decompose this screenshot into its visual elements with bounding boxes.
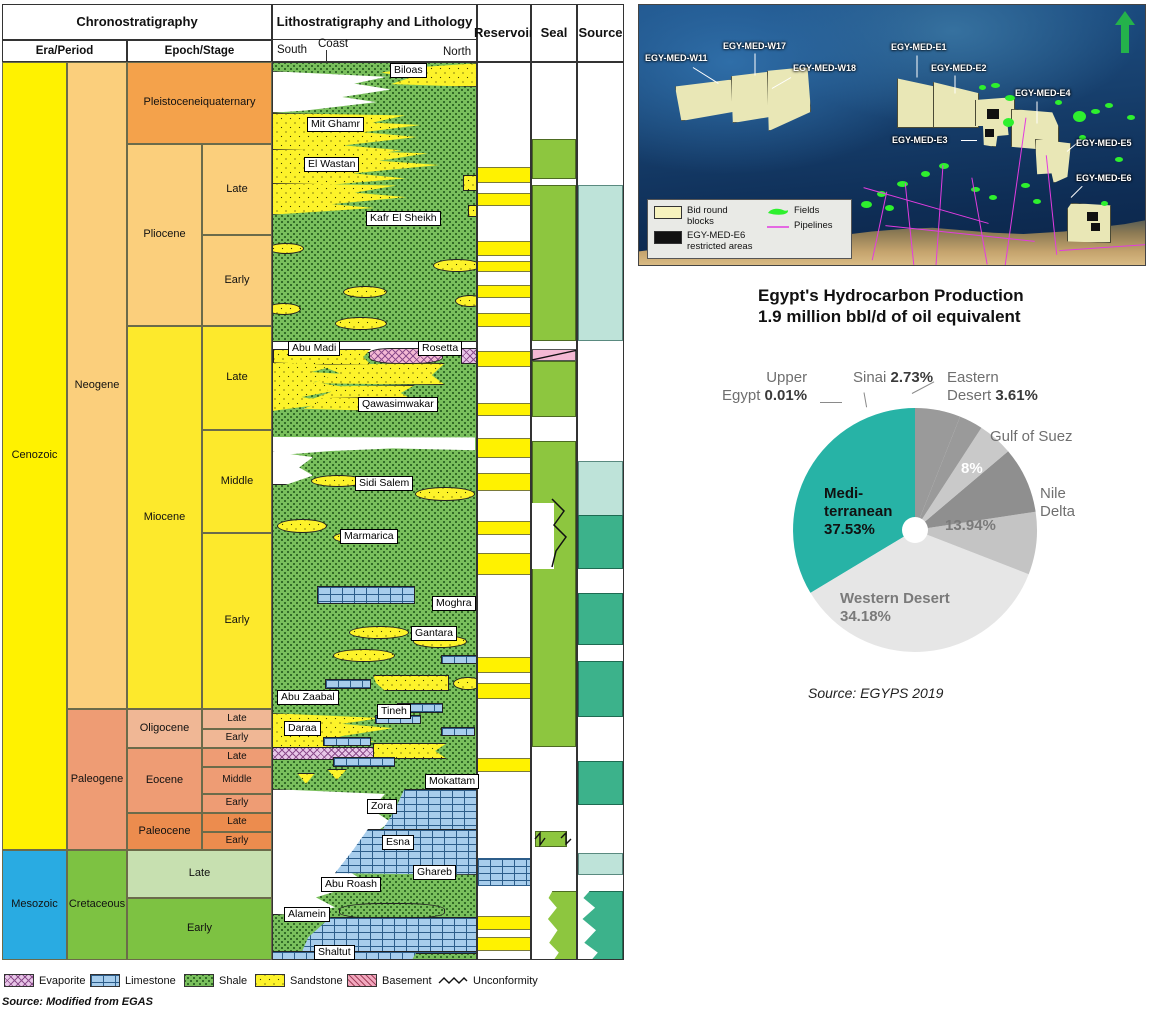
map-field bbox=[921, 171, 930, 177]
map-field bbox=[1005, 95, 1015, 101]
map-field bbox=[939, 163, 949, 169]
legend-item-basement: Basement bbox=[347, 974, 432, 987]
map-legend-label: Pipelines bbox=[794, 220, 833, 231]
restricted-area-patch bbox=[987, 109, 999, 119]
legend-item-shale: Shale bbox=[184, 974, 247, 987]
hydrocarbon-production-chart: Egypt's Hydrocarbon Production 1.9 milli… bbox=[640, 280, 1150, 730]
stage-pliocene-late: Late bbox=[202, 144, 272, 235]
legend-item-unconformity: Unconformity bbox=[438, 974, 538, 987]
evaporite-lens bbox=[461, 348, 477, 364]
source-band-dark bbox=[578, 761, 623, 805]
reservoir-band bbox=[478, 937, 530, 951]
map-label-egy-med-e4: EGY-MED-E4 bbox=[1015, 88, 1071, 98]
formation-label-tineh: Tineh bbox=[377, 704, 411, 719]
stage-eocene-middle: Middle bbox=[202, 767, 272, 794]
seal-band bbox=[532, 139, 576, 179]
stage-paleocene-early: Early bbox=[202, 832, 272, 850]
reservoir-band bbox=[478, 553, 530, 575]
formation-label-biloas: Biloas bbox=[390, 63, 427, 78]
pie-label-mediterranean: Medi- terranean 37.53% bbox=[824, 485, 892, 539]
legend-label: Basement bbox=[382, 975, 432, 987]
formation-label-sidi-salem: Sidi Salem bbox=[355, 476, 413, 491]
map-field bbox=[989, 195, 997, 200]
header-seal: Seal bbox=[531, 4, 577, 62]
wd-name: Western Desert bbox=[840, 590, 950, 607]
formation-label-esna: Esna bbox=[382, 835, 414, 850]
reservoir-band bbox=[478, 193, 530, 206]
period-neogene: Neogene bbox=[67, 62, 127, 709]
map-field bbox=[1127, 115, 1135, 120]
sand-lens bbox=[433, 259, 477, 272]
reservoir-band bbox=[478, 758, 530, 772]
formation-label-mokattam: Mokattam bbox=[425, 774, 479, 789]
leader-line bbox=[1037, 102, 1038, 124]
reservoir-band bbox=[478, 657, 530, 673]
stage-miocene-early: Early bbox=[202, 533, 272, 709]
bid-block-swatch-icon bbox=[654, 206, 682, 219]
formation-label-moghra: Moghra bbox=[432, 596, 476, 611]
map-field bbox=[1101, 201, 1108, 206]
ed-value: 3.61% bbox=[995, 387, 1038, 404]
pie-label-sinai: Sinai 2.73% bbox=[853, 369, 933, 387]
stage-eocene-early: Early bbox=[202, 794, 272, 813]
legend-label: Shale bbox=[219, 975, 247, 987]
source-column bbox=[577, 62, 624, 960]
reservoir-band bbox=[478, 351, 530, 367]
map-field bbox=[1033, 199, 1041, 204]
era-mesozoic: Mesozoic bbox=[2, 850, 67, 960]
formation-label-abu-madi: Abu Madi bbox=[288, 341, 340, 356]
evaporite-diagonal-icon bbox=[532, 349, 577, 361]
seal-zigzag-icon bbox=[550, 497, 572, 575]
evaporite-swatch-icon bbox=[4, 974, 34, 987]
north-arrow-icon bbox=[1115, 11, 1135, 53]
formation-label-abu-roash: Abu Roash bbox=[321, 877, 381, 892]
map-legend-fields: Fields bbox=[767, 205, 845, 217]
formation-label-ghareb: Ghareb bbox=[413, 865, 456, 880]
map-legend-label: EGY-MED-E6 bbox=[687, 230, 745, 241]
pipeline-swatch-icon bbox=[767, 221, 789, 232]
map-legend-label-2: restricted areas bbox=[687, 241, 752, 252]
unconformity-swatch-icon bbox=[438, 974, 468, 987]
stage-paleocene-late: Late bbox=[202, 813, 272, 832]
med-value: 37.53% bbox=[824, 521, 875, 538]
map-label-egy-med-e3: EGY-MED-E3 bbox=[892, 135, 948, 145]
sand-lens bbox=[335, 317, 387, 330]
map-field bbox=[979, 85, 986, 90]
era-cenozoic: Cenozoic bbox=[2, 62, 67, 850]
pie-source-note: Source: EGYPS 2019 bbox=[808, 685, 943, 701]
map-field bbox=[1073, 111, 1086, 122]
restricted-area-patch bbox=[985, 129, 994, 137]
ed-line1: Eastern bbox=[947, 369, 999, 386]
header-north: North bbox=[443, 46, 471, 58]
coast-tick bbox=[326, 50, 327, 62]
seal-band-bottom bbox=[546, 891, 577, 960]
legend-item-limestone: Limestone bbox=[90, 974, 176, 987]
header-epoch-stage: Epoch/Stage bbox=[127, 40, 272, 62]
ue-line1: Upper bbox=[766, 369, 807, 386]
pie-label-gulf-of-suez-value: 8% bbox=[961, 460, 983, 478]
header-source: Source bbox=[577, 4, 624, 62]
reservoir-band bbox=[478, 438, 530, 458]
formation-label-mit-ghamr: Mit Ghamr bbox=[307, 117, 364, 132]
leader-line bbox=[955, 76, 956, 94]
reservoir-column bbox=[477, 62, 531, 960]
map-label-egy-med-w17: EGY-MED-W17 bbox=[723, 41, 786, 51]
legend-label: Sandstone bbox=[290, 975, 343, 987]
ed-line2: Desert bbox=[947, 387, 991, 404]
seal-band bbox=[532, 185, 576, 341]
reservoir-band bbox=[478, 521, 530, 535]
epoch-miocene: Miocene bbox=[127, 326, 202, 709]
restricted-area-patch bbox=[1087, 212, 1098, 221]
formation-label-gantara: Gantara bbox=[411, 626, 457, 641]
med-line1: Medi- bbox=[824, 485, 863, 502]
legend-item-evaporite: Evaporite bbox=[4, 974, 85, 987]
stage-miocene-late: Late bbox=[202, 326, 272, 430]
sand-lens bbox=[463, 175, 477, 191]
pie-label-nile-delta-value: 13.94% bbox=[945, 517, 996, 535]
pie-label-eastern-desert: Eastern Desert 3.61% bbox=[947, 369, 1038, 405]
header-era-period: Era/Period bbox=[2, 40, 127, 62]
map-legend-pipelines: Pipelines bbox=[767, 220, 845, 232]
source-band-light bbox=[578, 185, 623, 341]
source-band-light bbox=[578, 853, 623, 875]
leader-line bbox=[755, 54, 756, 76]
sandstone-swatch-icon bbox=[255, 974, 285, 987]
leader-upper-egypt bbox=[820, 402, 842, 403]
pie-label-gulf-of-suez: Gulf of Suez bbox=[990, 428, 1073, 446]
nd-line1: Nile bbox=[1040, 485, 1066, 502]
map-label-egy-med-w11: EGY-MED-W11 bbox=[645, 53, 708, 63]
header-reservoir: Reservoir bbox=[477, 4, 531, 62]
epoch-eocene: Eocene bbox=[127, 748, 202, 813]
map-field bbox=[885, 205, 894, 211]
reservoir-band bbox=[478, 403, 530, 416]
map-label-egy-med-e2: EGY-MED-E2 bbox=[931, 63, 987, 73]
map-field bbox=[1115, 157, 1123, 162]
header-chronostratigraphy: Chronostratigraphy bbox=[2, 4, 272, 40]
seal-column bbox=[531, 62, 577, 960]
map-field bbox=[1021, 183, 1030, 188]
nd-line2: Delta bbox=[1040, 503, 1075, 520]
sinai-value: 2.73% bbox=[891, 369, 934, 386]
map-legend-bid-blocks: Bid round blocks bbox=[654, 205, 753, 227]
sand-lens bbox=[343, 286, 387, 298]
pie-center-hole bbox=[902, 517, 928, 543]
source-band-bottom bbox=[578, 891, 623, 960]
formation-label-shaltut: Shaltut bbox=[314, 945, 355, 960]
period-cretaceous: Cretaceous bbox=[67, 850, 127, 960]
stage-cretaceous-early: Early bbox=[127, 898, 272, 960]
pie-title-line1: Egypt's Hydrocarbon Production bbox=[758, 285, 1138, 306]
stage-miocene-middle: Middle bbox=[202, 430, 272, 533]
formation-label-zora: Zora bbox=[367, 799, 397, 814]
restricted-swatch-icon bbox=[654, 231, 682, 244]
period-paleogene: Paleogene bbox=[67, 709, 127, 850]
stage-oligocene-early: Early bbox=[202, 729, 272, 748]
pie-label-nile-delta: Nile Delta bbox=[1040, 485, 1075, 521]
seal-band bbox=[532, 441, 576, 747]
map-field bbox=[991, 83, 1000, 88]
formation-label-kafr-el-sheikh: Kafr El Sheikh bbox=[366, 211, 441, 226]
map-field bbox=[1105, 103, 1113, 108]
map-field bbox=[1055, 100, 1062, 105]
reservoir-band bbox=[478, 313, 530, 327]
sand-lens bbox=[468, 205, 477, 217]
ue-value: 0.01% bbox=[765, 387, 808, 404]
map-label-egy-med-e1: EGY-MED-E1 bbox=[891, 42, 947, 52]
formation-label-rosetta: Rosetta bbox=[418, 341, 462, 356]
formation-label-el-wastan: El Wastan bbox=[304, 157, 359, 172]
shale-esna bbox=[339, 903, 445, 919]
map-label-egy-med-e6: EGY-MED-E6 bbox=[1076, 173, 1132, 183]
strat-source-note: Source: Modified from EGAS bbox=[2, 996, 153, 1008]
reservoir-band bbox=[478, 916, 530, 930]
sand-lens bbox=[333, 649, 395, 662]
limestone-lens bbox=[441, 655, 477, 664]
formation-label-qawasimwakar: Qawasimwakar bbox=[358, 397, 438, 412]
page-root: Chronostratigraphy Lithostratigraphy and… bbox=[0, 0, 1150, 1012]
field-swatch-icon bbox=[767, 206, 789, 217]
header-lithostratigraphy: Lithostratigraphy and Lithology bbox=[272, 4, 477, 40]
reservoir-limestone-band bbox=[478, 858, 530, 886]
map-legend: Bid round blocks EGY-MED-E6 restricted a… bbox=[647, 199, 852, 259]
reservoir-band bbox=[478, 167, 530, 183]
map-field bbox=[861, 201, 872, 208]
seal-band bbox=[532, 361, 576, 417]
shale-swatch-icon bbox=[184, 974, 214, 987]
stage-pliocene-early: Early bbox=[202, 235, 272, 326]
sinai-name: Sinai bbox=[853, 369, 886, 386]
legend-label: Evaporite bbox=[39, 975, 85, 987]
basement-swatch-icon bbox=[347, 974, 377, 987]
limestone-lens bbox=[323, 737, 371, 746]
stage-oligocene-late: Late bbox=[202, 709, 272, 729]
map-label-egy-med-e5: EGY-MED-E5 bbox=[1076, 138, 1132, 148]
stratigraphic-chart: Chronostratigraphy Lithostratigraphy and… bbox=[2, 4, 624, 960]
wd-value: 34.18% bbox=[840, 608, 891, 625]
ue-line2: Egypt bbox=[722, 387, 760, 404]
stage-eocene-late: Late bbox=[202, 748, 272, 767]
header-coast: Coast bbox=[318, 38, 348, 50]
sand-lens bbox=[415, 487, 475, 501]
stage-cretaceous-late: Late bbox=[127, 850, 272, 898]
map-field bbox=[1091, 109, 1100, 114]
map-label-egy-med-w18: EGY-MED-W18 bbox=[793, 63, 856, 73]
lithology-panel bbox=[272, 62, 477, 960]
sand-lens bbox=[349, 626, 409, 639]
med-line2: terranean bbox=[824, 503, 892, 520]
limestone-lens bbox=[333, 757, 395, 767]
formation-label-daraa: Daraa bbox=[284, 721, 321, 736]
pie-title-line2: 1.9 million bbl/d of oil equivalent bbox=[758, 306, 1138, 327]
seal-small-zigzag-icon bbox=[533, 829, 573, 849]
limestone-marmarica bbox=[317, 586, 415, 604]
source-band-dark bbox=[578, 593, 623, 645]
map-legend-label: Fields bbox=[794, 205, 819, 216]
pie-label-western-desert: Western Desert 34.18% bbox=[840, 590, 950, 626]
limestone-lens bbox=[441, 727, 475, 736]
limestone-swatch-icon bbox=[90, 974, 120, 987]
sand-lens bbox=[277, 519, 327, 533]
source-band-dark bbox=[578, 661, 623, 717]
epoch-pleistocene: Pleistoceneiquaternary bbox=[127, 62, 272, 144]
leader-line bbox=[917, 56, 918, 78]
legend-label: Unconformity bbox=[473, 975, 538, 987]
reservoir-band bbox=[478, 285, 530, 298]
pie-label-upper-egypt: Upper Egypt 0.01% bbox=[722, 369, 807, 405]
epoch-paleocene: Paleocene bbox=[127, 813, 202, 850]
epoch-pliocene: Pliocene bbox=[127, 144, 202, 326]
source-band-dark bbox=[578, 515, 623, 569]
map-legend-restricted: EGY-MED-E6 restricted areas bbox=[654, 230, 753, 252]
legend-item-sandstone: Sandstone bbox=[255, 974, 343, 987]
reservoir-band bbox=[478, 683, 530, 699]
map-block-egy-med-e6[interactable] bbox=[1067, 203, 1111, 243]
formation-label-abu-zaabal: Abu Zaabal bbox=[277, 690, 339, 705]
map-legend-label: Bid round blocks bbox=[687, 205, 753, 227]
epoch-oligocene: Oligocene bbox=[127, 709, 202, 748]
leader-line bbox=[961, 140, 977, 141]
pie-chart-title: Egypt's Hydrocarbon Production 1.9 milli… bbox=[758, 285, 1138, 328]
reservoir-band bbox=[478, 473, 530, 491]
restricted-area-patch bbox=[1091, 223, 1100, 231]
sand-lens bbox=[453, 677, 477, 690]
formation-label-marmarica: Marmarica bbox=[340, 529, 398, 544]
map-field bbox=[1003, 118, 1014, 127]
sand-gantara bbox=[373, 675, 449, 691]
reservoir-band bbox=[478, 261, 530, 272]
legend-label: Limestone bbox=[125, 975, 176, 987]
sand-lens bbox=[455, 295, 477, 307]
bid-round-map[interactable]: EGY-MED-W11 EGY-MED-W17 EGY-MED-W18 EGY-… bbox=[638, 4, 1146, 266]
reservoir-band bbox=[478, 241, 530, 256]
formation-label-alamein: Alamein bbox=[284, 907, 330, 922]
limestone-lens bbox=[325, 679, 371, 689]
